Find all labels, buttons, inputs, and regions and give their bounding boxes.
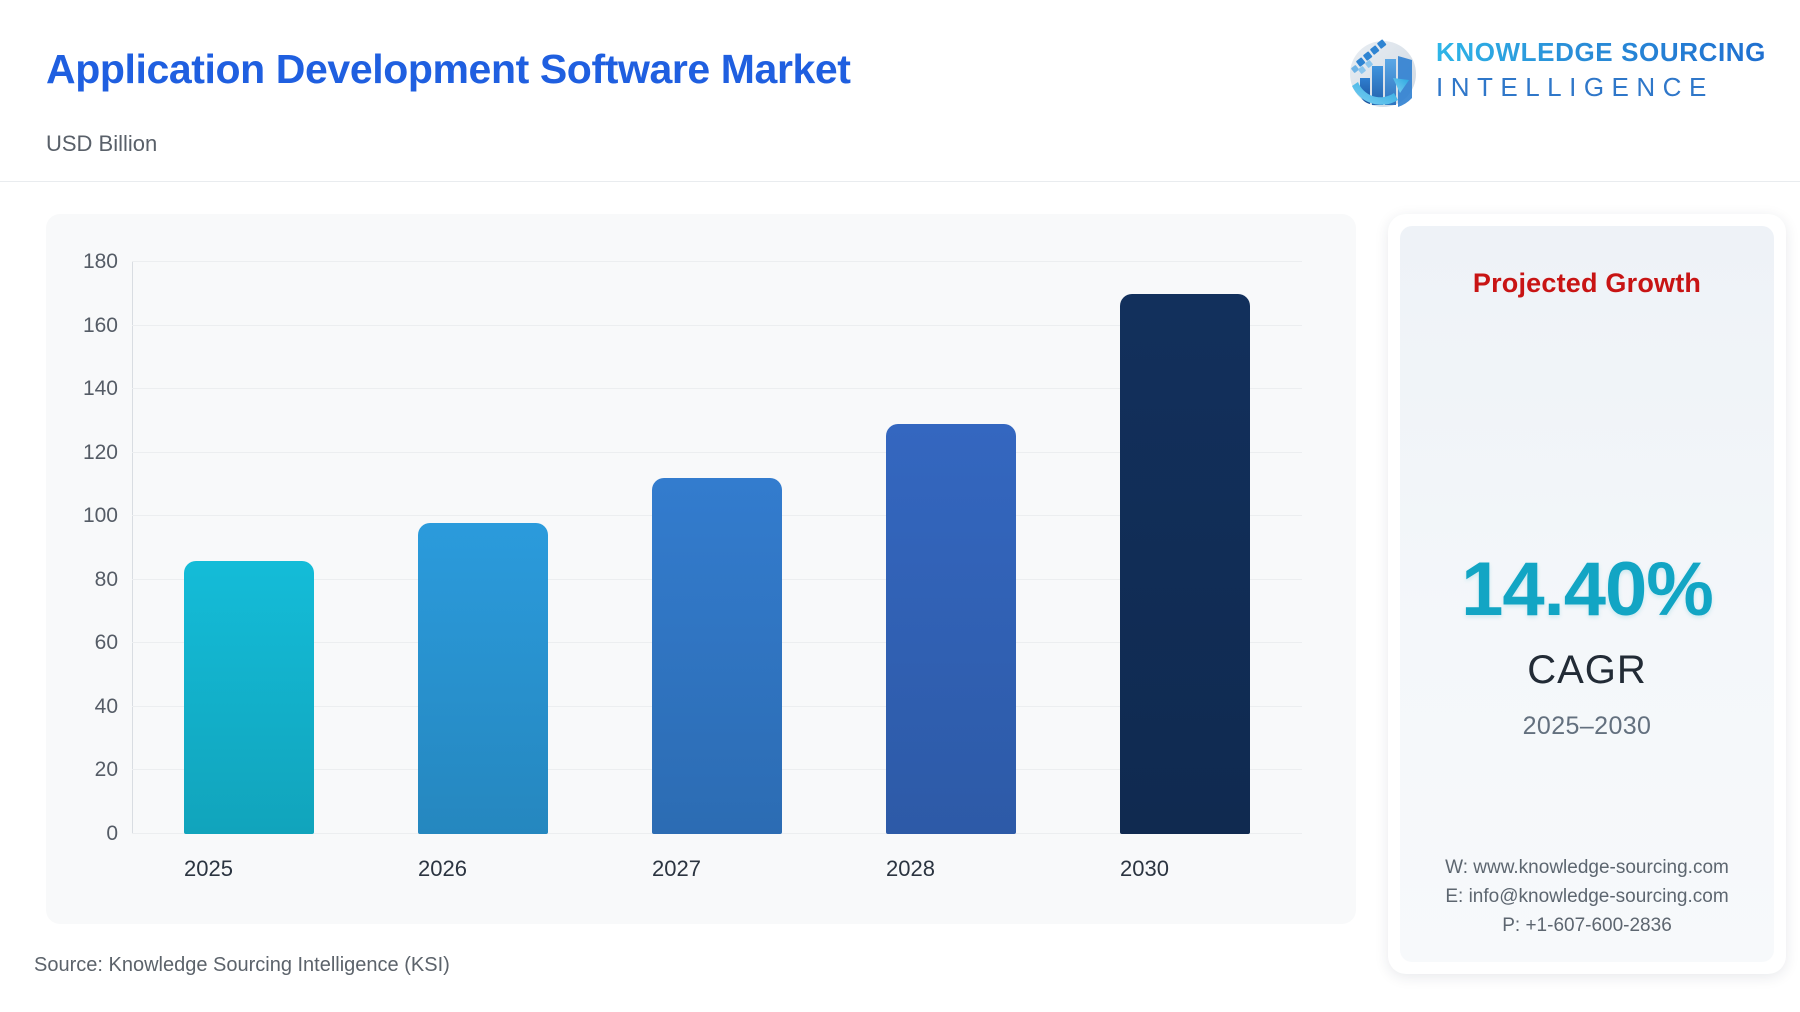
- bar-2030[interactable]: 2030: [1120, 294, 1250, 834]
- projected-growth-panel: Projected Growth 14.40% CAGR 2025–2030 W…: [1388, 214, 1786, 974]
- projected-growth-inner: Projected Growth 14.40% CAGR 2025–2030 W…: [1400, 226, 1774, 962]
- y-axis-tick-label: 0: [106, 822, 118, 846]
- y-axis-tick-label: 40: [95, 695, 118, 719]
- x-axis-tick-label: 2028: [886, 856, 935, 882]
- y-axis-tick-label: 20: [95, 758, 118, 782]
- chart-card: 020406080100120140160180 202520262027202…: [46, 214, 1356, 924]
- header: Application Development Software Market …: [0, 0, 1800, 182]
- source-note: Source: Knowledge Sourcing Intelligence …: [34, 954, 450, 977]
- brand-logo: KNOWLEDGE SOURCING INTELLIGENCE: [1338, 26, 1766, 112]
- bar-chart: 020406080100120140160180 202520262027202…: [46, 214, 1356, 924]
- y-axis-tick-label: 80: [95, 568, 118, 592]
- knowledge-sourcing-globe-logo: [1338, 26, 1424, 112]
- bar-slot: 2028: [834, 262, 1068, 834]
- bar-slot: 2026: [366, 262, 600, 834]
- y-axis-tick-label: 160: [83, 314, 118, 338]
- bar-slot: 2027: [600, 262, 834, 834]
- cagr-value: 14.40%: [1400, 546, 1774, 633]
- x-axis-tick-label: 2026: [418, 856, 467, 882]
- body: 020406080100120140160180 202520262027202…: [0, 182, 1800, 1012]
- y-axis-tick-label: 180: [83, 250, 118, 274]
- contact-phone: P: +1-607-600-2836: [1400, 911, 1774, 940]
- contact-email[interactable]: E: info@knowledge-sourcing.com: [1400, 882, 1774, 911]
- bar-slot: 2025: [132, 262, 366, 834]
- x-axis-tick-label: 2027: [652, 856, 701, 882]
- logo-line-intelligence: INTELLIGENCE: [1436, 74, 1766, 100]
- bar-series: 20252026202720282030: [132, 262, 1302, 834]
- y-axis-tick-label: 120: [83, 441, 118, 465]
- y-axis-tick-label: 140: [83, 377, 118, 401]
- logo-wordmark: KNOWLEDGE SOURCING INTELLIGENCE: [1436, 39, 1766, 100]
- logo-line-knowledge-sourcing: KNOWLEDGE SOURCING: [1436, 39, 1766, 65]
- contact-website[interactable]: W: www.knowledge-sourcing.com: [1400, 853, 1774, 882]
- bar-2028[interactable]: 2028: [886, 424, 1016, 834]
- plot-area: 020406080100120140160180 202520262027202…: [132, 262, 1302, 834]
- bar-slot: 2030: [1068, 262, 1302, 834]
- market-chart-infographic: Application Development Software Market …: [0, 0, 1800, 1012]
- y-axis-tick-label: 100: [83, 504, 118, 528]
- x-axis-tick-label: 2025: [184, 856, 233, 882]
- x-axis-tick-label: 2030: [1120, 856, 1169, 882]
- panel-heading: Projected Growth: [1473, 268, 1701, 299]
- units-subtitle: USD Billion: [46, 131, 157, 157]
- y-axis-tick-label: 60: [95, 631, 118, 655]
- bar-2026[interactable]: 2026: [418, 523, 548, 834]
- cagr-label: CAGR: [1400, 648, 1774, 693]
- bar-2027[interactable]: 2027: [652, 478, 782, 834]
- contact-block: W: www.knowledge-sourcing.com E: info@kn…: [1400, 853, 1774, 940]
- cagr-range: 2025–2030: [1400, 712, 1774, 741]
- bar-2025[interactable]: 2025: [184, 561, 314, 834]
- page-title: Application Development Software Market: [46, 46, 851, 93]
